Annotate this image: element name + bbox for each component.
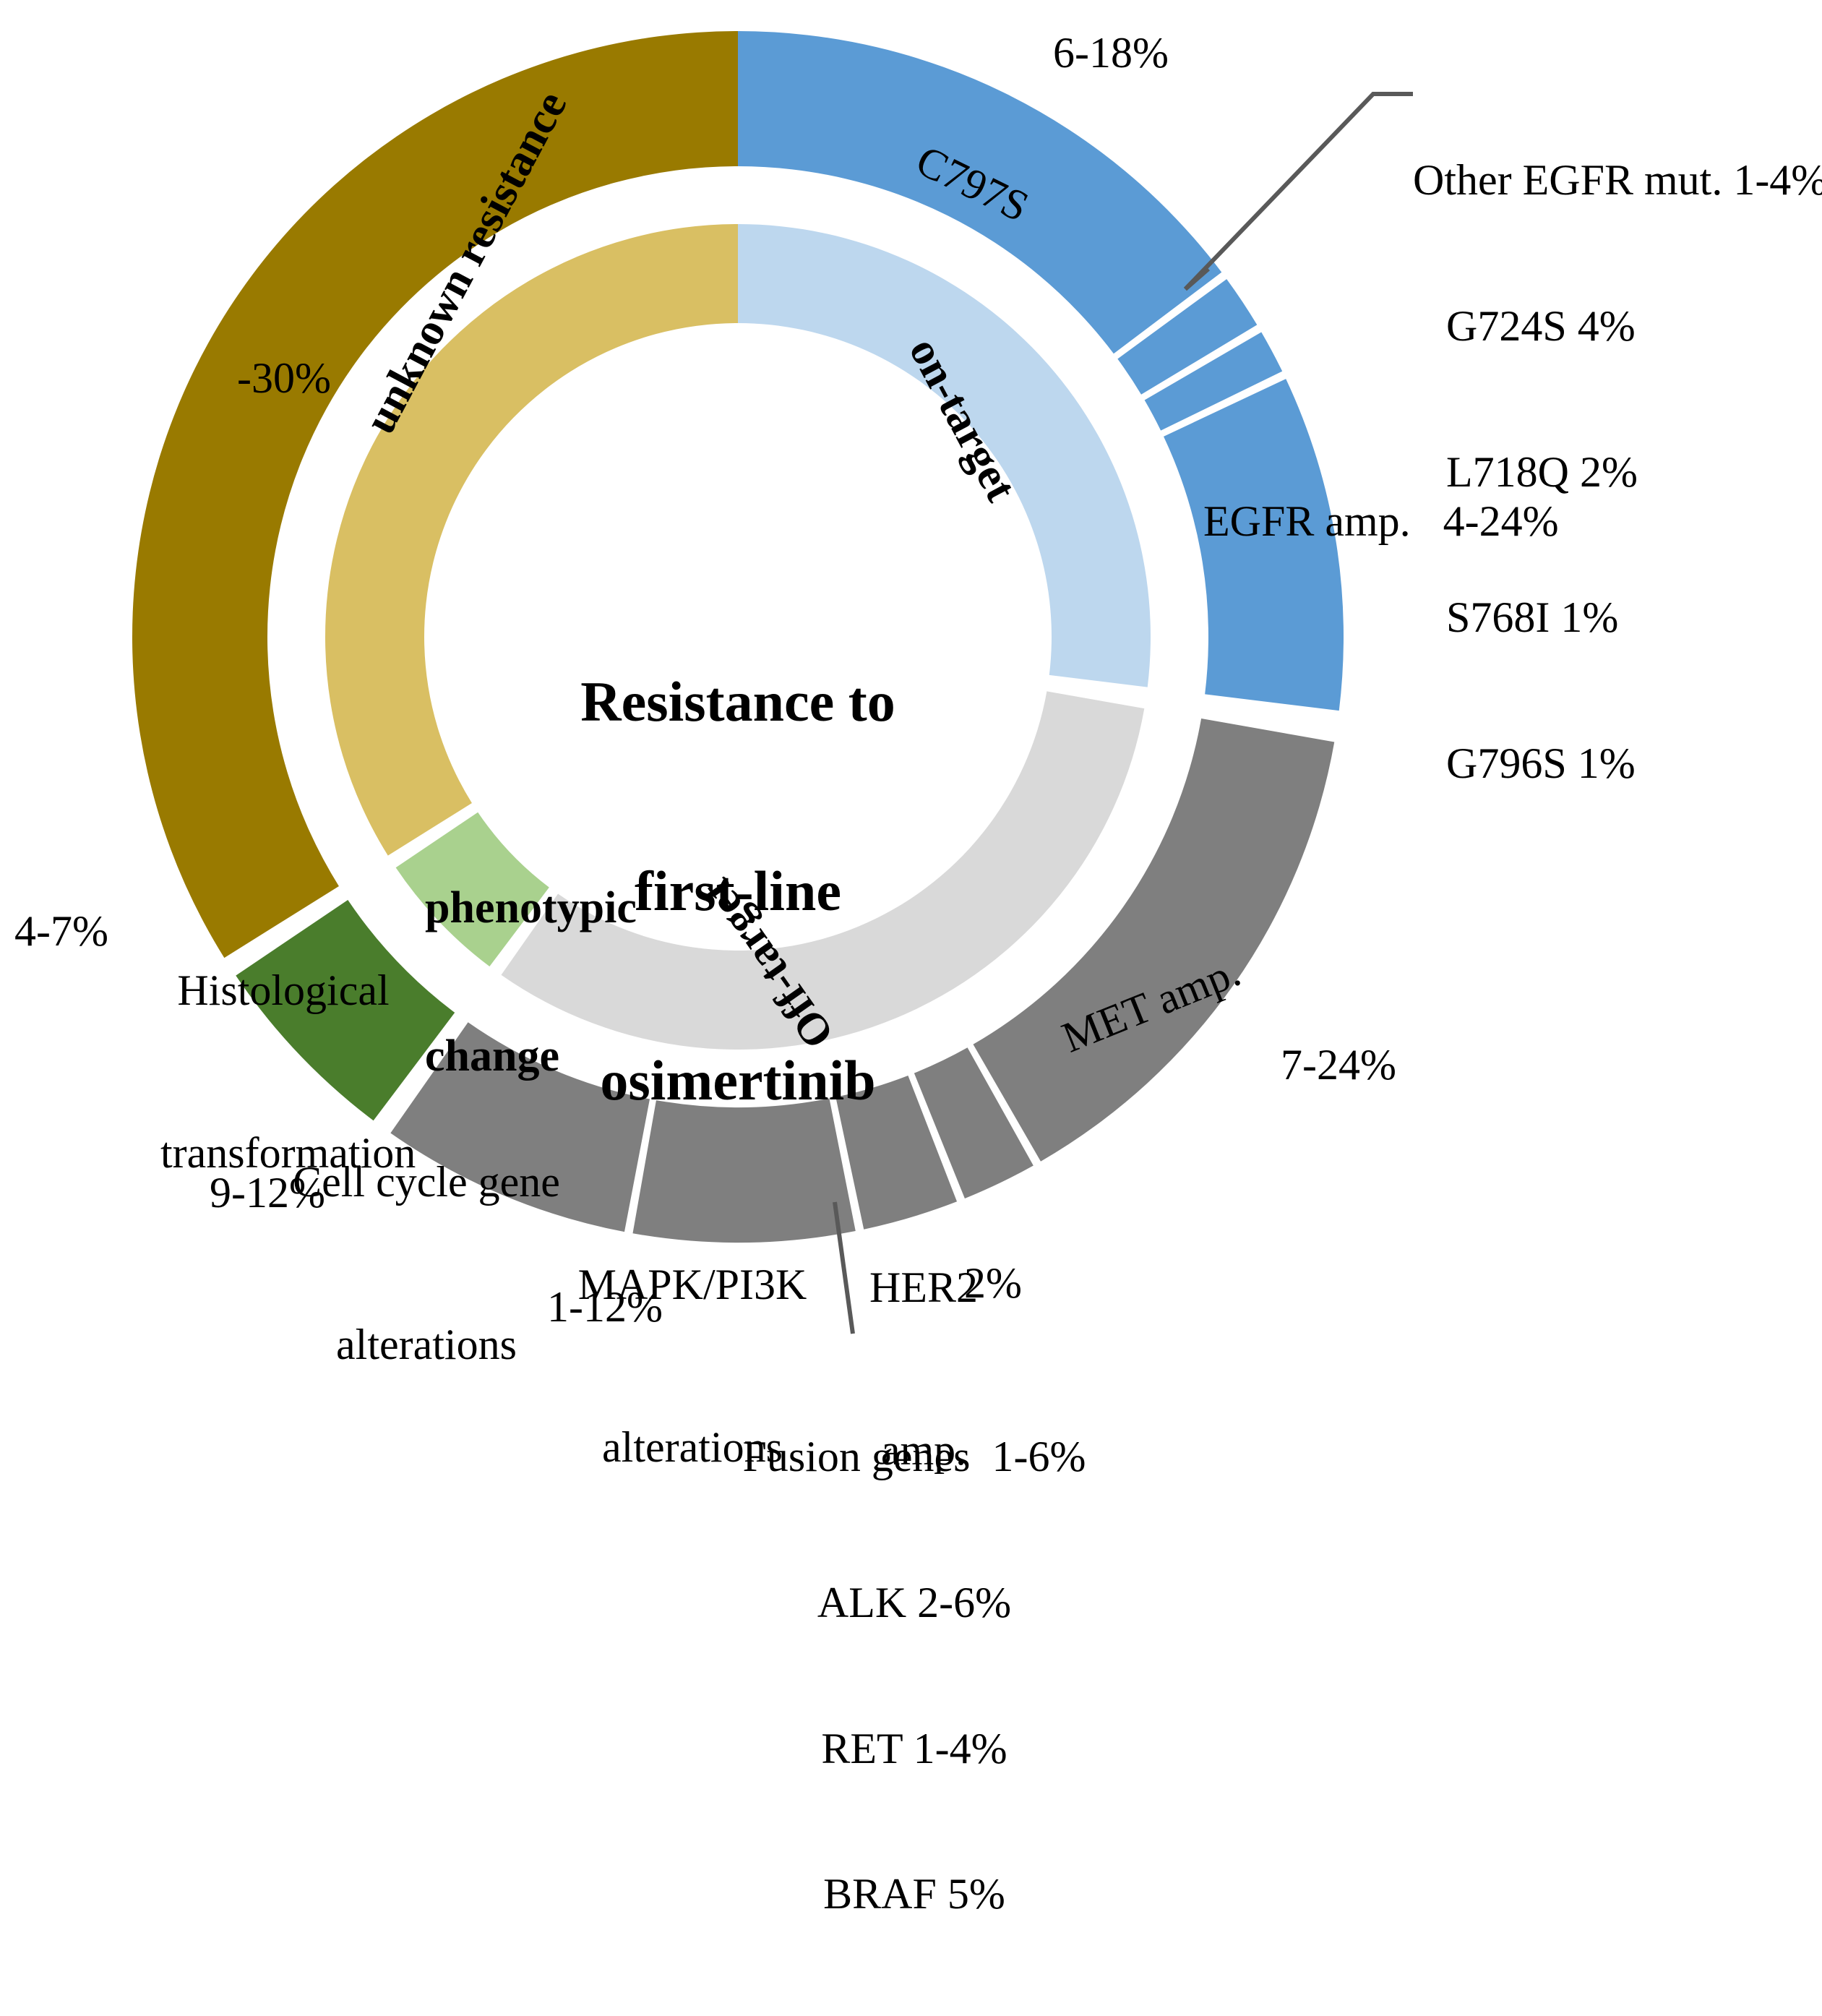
inner-label-phenotypic-line-1: phenotypic	[425, 883, 637, 932]
annotation-other-egfr-mutations: Other EGFR mut. 1-4% G724S 4% L718Q 2% S…	[1413, 59, 1822, 885]
segment-label-histological: Histological transformation	[160, 855, 406, 1289]
center-title-line-1: Resistance to	[514, 670, 962, 733]
fusion-line-4: BRAF 5%	[726, 1870, 1102, 1918]
other-egfr-line-3: L718Q 2%	[1413, 448, 1822, 497]
mapk-line-2: alterations	[577, 1420, 808, 1475]
segment-label-mapk-pi3k: MAPK/PI3K alterations	[577, 1149, 808, 1583]
other-egfr-line-2: G724S 4%	[1413, 302, 1822, 351]
segment-pct-c797s: 6-18%	[1053, 29, 1169, 77]
fusion-line-3: RET 1-4%	[726, 1725, 1102, 1773]
other-egfr-line-4: S768I 1%	[1413, 593, 1822, 642]
histological-line-1: Histological	[160, 964, 406, 1018]
fusion-line-2: ALK 2-6%	[726, 1579, 1102, 1627]
histological-line-2: transformation	[160, 1126, 406, 1180]
segment-pct-histological: 4-7%	[14, 907, 108, 956]
leader-line-other-egfr	[1185, 94, 1413, 289]
segment-pct-her2-amp: 2%	[964, 1259, 1022, 1308]
cellcycle-line-2: alterations	[282, 1318, 571, 1372]
her2-line-1: HER2	[869, 1261, 978, 1315]
segment-pct-met-amp: 7-24%	[1281, 1041, 1396, 1089]
resistance-donut-figure: Resistance to first-line osimertinib on-…	[0, 0, 1822, 1546]
other-egfr-line-5: G796S 1%	[1413, 739, 1822, 788]
segment-pct-unknown-resistance: -30%	[237, 354, 331, 403]
other-egfr-line-1: Other EGFR mut. 1-4%	[1413, 156, 1822, 205]
segment-label-egfr-amp: EGFR amp. 4-24%	[1203, 497, 1559, 546]
